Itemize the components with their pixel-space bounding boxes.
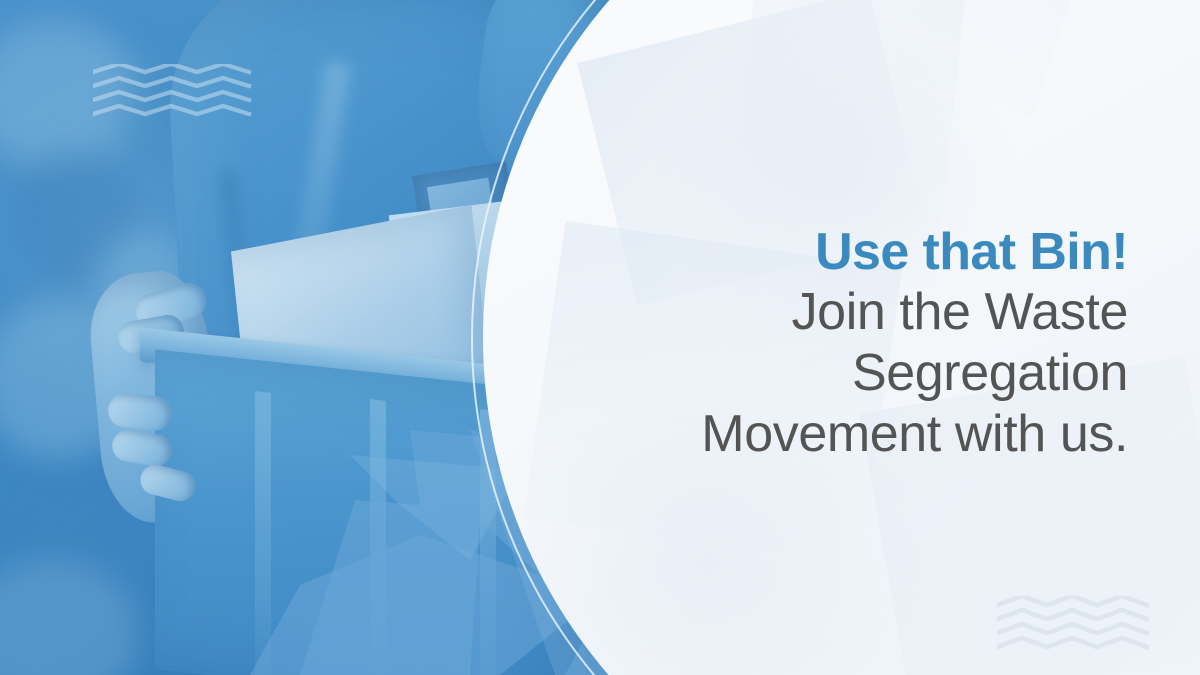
subheadline: Join the Waste Segregation Movement with…: [568, 282, 1128, 464]
headline: Use that Bin!: [568, 224, 1128, 280]
subheadline-line-3: Movement with us.: [568, 404, 1128, 465]
zigzag-top-left: [93, 64, 253, 120]
marketing-banner: Use that Bin! Join the Waste Segregation…: [0, 0, 1200, 675]
zigzag-bottom-right: [997, 596, 1149, 650]
copy-block: Use that Bin! Join the Waste Segregation…: [568, 224, 1128, 465]
subheadline-line-2: Segregation: [568, 343, 1128, 404]
subheadline-line-1: Join the Waste: [568, 282, 1128, 343]
